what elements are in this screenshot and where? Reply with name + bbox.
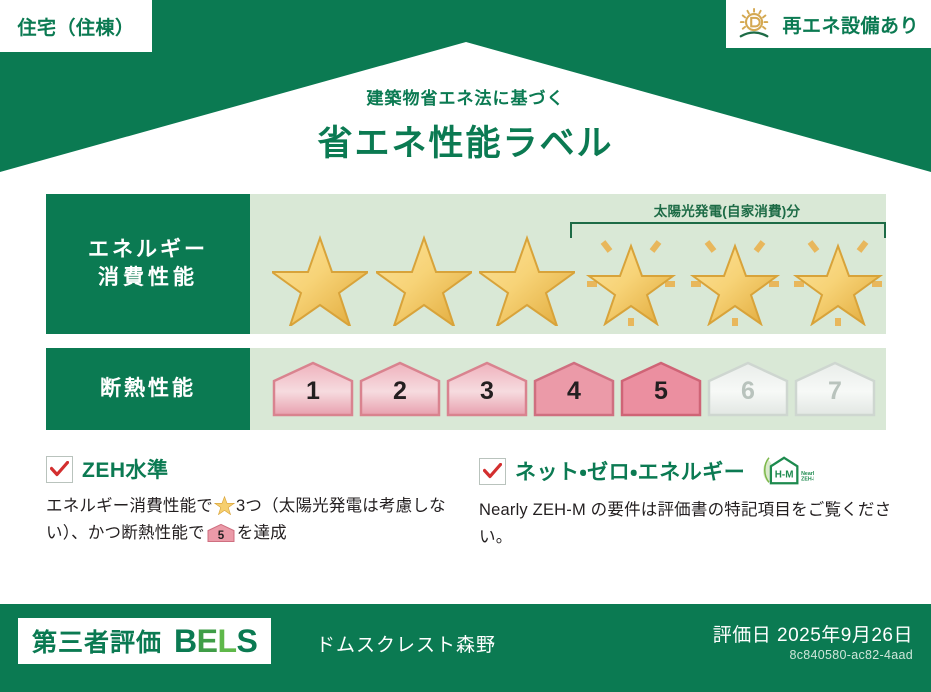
energy-performance-row-label: エネルギー 消費性能 — [46, 194, 250, 334]
building-name: ドムスクレスト森野 — [316, 630, 496, 657]
claim-zeh-header: ZEH水準 — [46, 454, 461, 484]
insulation-level-badge: 7 — [794, 361, 876, 417]
bels-letter-l: L — [217, 623, 236, 659]
energy-label-line2: 消費性能 — [98, 264, 198, 292]
claim-zeh-title: ZEH水準 — [82, 454, 169, 484]
svg-text:H-M: H-M — [775, 470, 794, 481]
renewable-equipment-label: 再エネ設備あり — [782, 11, 919, 38]
claim-zeh-text: エネルギー消費性能で3つ（太陽光発電は考慮しない）、かつ断熱性能で5を達成 — [46, 493, 461, 546]
insulation-level-value: 2 — [393, 377, 407, 417]
star-icon — [479, 226, 575, 326]
energy-performance-row: エネルギー 消費性能 太陽光発電(自家消費)分 — [46, 194, 886, 334]
svg-text:5: 5 — [217, 529, 224, 542]
svg-text:ZEH-M: ZEH-M — [801, 476, 814, 482]
insulation-level-value: 4 — [567, 377, 581, 417]
star-icon — [376, 226, 472, 326]
nearly-zeh-m-logo: H-M Nearly ZEH-M — [758, 454, 814, 488]
insulation-level-badge: 2 — [359, 361, 441, 417]
energy-label-line1: エネルギー — [88, 236, 208, 264]
label-subtitle: 建築物省エネ法に基づく — [0, 84, 931, 109]
solar-note-label: 太陽光発電(自家消費)分 — [568, 200, 886, 220]
insulation-level-value: 6 — [741, 377, 755, 417]
insulation-levels-area: 1 2 3 — [250, 348, 886, 430]
star-icon — [214, 495, 235, 515]
star-sparkle-icon — [583, 226, 679, 326]
house-badge-5-icon: 5 — [207, 522, 235, 544]
claim-net-zero-energy: ネット・ゼロ・エネルギー H-M Nearly ZEH-M Nearly ZEH… — [479, 454, 894, 550]
evaluation-date: 評価日 2025年9月26日 — [713, 620, 913, 647]
star-sparkle-icon — [790, 226, 886, 326]
label-title: 省エネ性能ラベル — [0, 115, 931, 166]
claim-nze-title: ネット・ゼロ・エネルギー — [515, 456, 745, 486]
bels-letter-s: S — [237, 623, 258, 659]
third-party-eval-label: 第三者評価 — [32, 623, 162, 659]
building-type-tag-label: 住宅（住棟） — [17, 13, 134, 40]
insulation-level-value: 3 — [480, 377, 494, 417]
building-type-tag: 住宅（住棟） — [0, 0, 152, 52]
evaluation-id: 8c840580-ac82-4aad — [789, 648, 913, 662]
bels-certification-box: 第三者評価 BELS — [18, 618, 271, 664]
insulation-label-text: 断熱性能 — [100, 375, 196, 403]
checkbox-zeh-standard[interactable] — [46, 456, 73, 483]
insulation-level-value: 5 — [654, 377, 668, 417]
insulation-level-badge: 5 — [620, 361, 702, 417]
insulation-performance-row: 断熱性能 — [46, 348, 886, 430]
bels-wordmark: BELS — [174, 625, 257, 657]
insulation-performance-row-label: 断熱性能 — [46, 348, 250, 430]
check-icon — [50, 461, 69, 477]
star-sparkle-icon — [687, 226, 783, 326]
insulation-level-badge: 4 — [533, 361, 615, 417]
insulation-level-badge: 3 — [446, 361, 528, 417]
bels-letter-b: B — [174, 623, 197, 659]
insulation-level-value: 7 — [828, 377, 842, 417]
insulation-level-badge: 6 — [707, 361, 789, 417]
evaluation-date-value: 2025年9月26日 — [777, 625, 913, 646]
claim-nze-header: ネット・ゼロ・エネルギー H-M Nearly ZEH-M — [479, 454, 894, 488]
bels-letter-e: E — [197, 623, 218, 659]
renewable-equipment-tag: 再エネ設備あり — [726, 0, 931, 48]
claim-zeh-standard: ZEH水準 エネルギー消費性能で3つ（太陽光発電は考慮しない）、かつ断熱性能で5… — [46, 454, 461, 550]
insulation-level-group: 1 2 3 — [272, 361, 876, 417]
insulation-level-badge: 1 — [272, 361, 354, 417]
evaluation-date-label: 評価日 — [713, 625, 772, 646]
claim-nze-text: Nearly ZEH-M の要件は評価書の特記項目をご覧ください。 — [479, 497, 894, 550]
energy-performance-stars-area: 太陽光発電(自家消費)分 — [250, 194, 886, 334]
check-icon — [483, 463, 502, 479]
star-rating-group — [250, 222, 886, 330]
label-footer: 第三者評価 BELS ドムスクレスト森野 評価日 2025年9月26日 8c84… — [0, 604, 931, 692]
star-icon — [272, 226, 368, 326]
energy-performance-label: 住宅（住棟） 再エネ設備あり 建築物省エネ法に基づく 省エネ性能ラベル — [0, 0, 931, 692]
claim-zeh-text-part1: エネルギー消費性能で — [46, 497, 213, 515]
insulation-level-value: 1 — [306, 377, 320, 417]
claim-zeh-text-part3: を達成 — [237, 524, 287, 542]
claims-section: ZEH水準 エネルギー消費性能で3つ（太陽光発電は考慮しない）、かつ断熱性能で5… — [46, 454, 896, 550]
label-title-block: 建築物省エネ法に基づく 省エネ性能ラベル — [0, 84, 931, 166]
sun-solar-icon — [736, 7, 774, 41]
checkbox-net-zero-energy[interactable] — [479, 458, 506, 485]
label-body-panel: エネルギー 消費性能 太陽光発電(自家消費)分 — [18, 172, 913, 604]
